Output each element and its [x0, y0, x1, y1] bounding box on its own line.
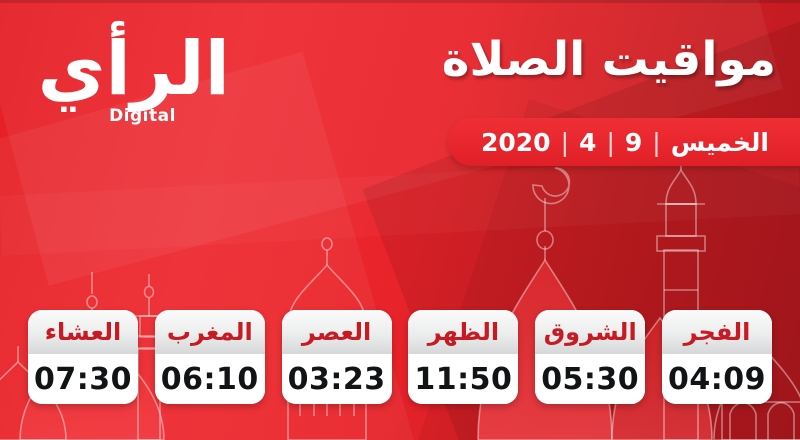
date-separator-1: |: [649, 128, 663, 157]
logo-wordmark: الرأي: [55, 34, 230, 104]
prayer-name: الفجر: [662, 310, 772, 354]
prayer-times-banner: الرأي Digital مواقيت الصلاة الخميس | 9 |…: [0, 0, 800, 440]
date-year: 2020: [474, 128, 558, 157]
date-weekday: الخميس: [664, 128, 776, 157]
prayer-time: 07:30: [28, 354, 138, 404]
prayer-time: 04:09: [662, 354, 772, 404]
prayer-time: 03:23: [282, 354, 392, 404]
prayer-name: الظهر: [408, 310, 518, 354]
top-edge-line: [0, 0, 800, 3]
arch-icon: [730, 403, 756, 440]
prayer-time: 11:50: [408, 354, 518, 404]
prayer-time: 05:30: [535, 354, 645, 404]
date-month: 4: [572, 128, 603, 157]
crescent-moon-icon: [533, 168, 569, 204]
date-day: 9: [618, 128, 649, 157]
prayer-card[interactable]: العشاء 07:30: [28, 310, 138, 404]
date-bar: الخميس | 9 | 4 | 2020: [448, 118, 800, 166]
prayer-card[interactable]: العصر 03:23: [282, 310, 392, 404]
prayer-card[interactable]: الفجر 04:09: [662, 310, 772, 404]
prayer-name: المغرب: [155, 310, 265, 354]
prayer-name: العصر: [282, 310, 392, 354]
prayer-time: 06:10: [155, 354, 265, 404]
date-separator-2: |: [603, 128, 617, 157]
prayer-card[interactable]: الظهر 11:50: [408, 310, 518, 404]
page-title: مواقيت الصلاة: [442, 36, 776, 83]
prayer-times-list: العشاء 07:30 المغرب 06:10 العصر 03:23 ال…: [28, 310, 772, 404]
prayer-name: العشاء: [28, 310, 138, 354]
prayer-card[interactable]: الشروق 05:30: [535, 310, 645, 404]
logo[interactable]: الرأي Digital: [55, 34, 230, 126]
prayer-name: الشروق: [535, 310, 645, 354]
date-separator-3: |: [558, 128, 572, 157]
prayer-card[interactable]: المغرب 06:10: [155, 310, 265, 404]
